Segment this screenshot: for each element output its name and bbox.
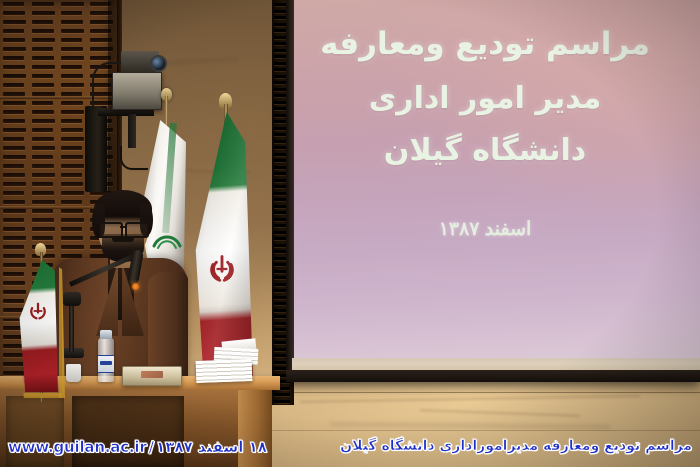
papers-stack [196,359,253,383]
microphone-stem [69,300,74,352]
photograph-canvas: مراسم تودیع ومعارفه مدیر امور اداری دانش… [0,0,700,467]
slide-content: مراسم تودیع ومعارفه مدیر امور اداری دانش… [292,0,692,372]
microphone-indicator-led [132,283,139,290]
slide-date: اسفند ۱۳۸۷ [292,218,678,241]
slide-title-line-2: مدیر امور اداری [292,81,678,116]
paper-cup [66,364,81,382]
camera-wiring [120,146,148,170]
camera-wall-mount [85,106,107,192]
eyeglass-lens-left [99,222,123,238]
water-bottle-cap [100,330,112,339]
desk-panel-middle [72,396,184,467]
slide-title-line-3: دانشگاه گیلان [292,133,678,168]
camera-arm [128,114,136,148]
slide-title-line-1: مراسم تودیع ومعارفه [292,26,678,62]
microphone-joint [63,292,81,306]
desk-panel-left [6,396,64,467]
desk-leg-right [238,390,272,467]
eyeglasses-icon [98,222,148,235]
camera-lens-icon [150,55,167,72]
water-bottle-label [98,355,114,373]
camera-body [112,72,162,110]
eyeglass-lens-right [125,222,149,238]
book-on-desk [122,366,182,386]
